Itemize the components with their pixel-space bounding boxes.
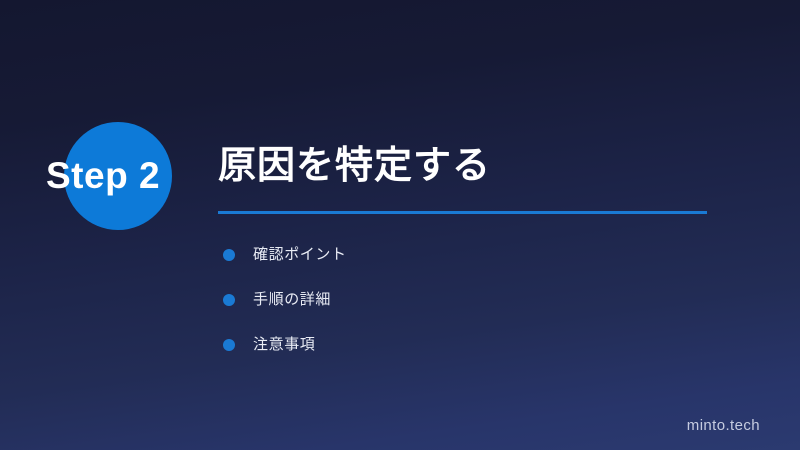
list-item-label: 確認ポイント — [253, 247, 347, 262]
list-item-label: 手順の詳細 — [253, 292, 331, 307]
bullet-dot-icon — [223, 339, 235, 351]
bullet-list: 確認ポイント 手順の詳細 注意事項 — [218, 232, 698, 367]
list-item-label: 注意事項 — [253, 337, 315, 352]
bullet-dot-icon — [223, 294, 235, 306]
list-item: 確認ポイント — [218, 232, 698, 277]
page-title: 原因を特定する — [218, 145, 491, 189]
list-item: 手順の詳細 — [218, 277, 698, 322]
title-divider — [218, 211, 707, 214]
slide-canvas: Step 2 原因を特定する 確認ポイント 手順の詳細 注意事項 minto.t… — [0, 0, 800, 450]
bullet-dot-icon — [223, 249, 235, 261]
list-item: 注意事項 — [218, 322, 698, 367]
step-label: Step 2 — [46, 154, 246, 198]
footer-brand: minto.tech — [687, 417, 760, 434]
